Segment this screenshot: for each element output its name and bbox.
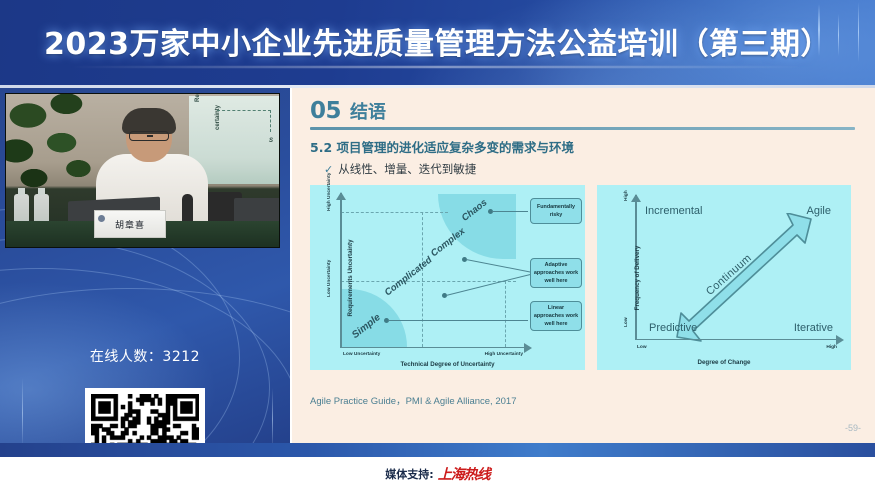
stacey-matrix-chart: Requirements Uncertainty Technical Degre…: [310, 185, 585, 370]
sidebar-ray-1: [22, 378, 23, 443]
heading-divider: [310, 127, 855, 130]
zone-label-complicated: Complicated: [383, 255, 435, 299]
quadrant-label-iterative: Iterative: [794, 322, 833, 334]
media-brand-logo: 上海热线: [438, 464, 490, 484]
x-axis-label: Technical Degree of Uncertainty: [310, 361, 585, 368]
gridline-h-upper: [341, 212, 448, 213]
page-title: 2023万家中小企业先进质量管理方法公益培训（第三期）: [0, 19, 875, 63]
callout-fundamentally-risky: Fundamentally risky: [530, 198, 582, 224]
leader-line-complex: [466, 259, 531, 273]
leader-line-chaos: [492, 211, 528, 212]
callout-adaptive-approaches: Adaptive approaches work well here: [530, 258, 582, 288]
quadrant-label-predictive: Predictive: [649, 322, 697, 334]
media-support-label: 媒体支持:: [385, 466, 433, 482]
continuum-chart: Frequency of Delivery Degree of Change H…: [597, 185, 851, 370]
x-axis: [340, 347, 525, 349]
sidebar-panel: Requirements Un certainty S 胡章喜 在线人数：321…: [0, 88, 290, 443]
slide-heading: 05 结语: [310, 98, 861, 124]
slide-source-citation: Agile Practice Guide，PMI & Agile Allianc…: [310, 393, 516, 407]
quadrant-label-incremental: Incremental: [645, 205, 702, 217]
video-feed[interactable]: Requirements Un certainty S 胡章喜: [5, 93, 280, 248]
qr-canvas[interactable]: [91, 394, 199, 443]
callout-linear-approaches: Linear approaches work well here: [530, 301, 582, 331]
y-axis-label: Frequency of Delivery: [634, 245, 641, 310]
y-tick-high: High Uncertainty: [327, 173, 332, 211]
sidebar-ray-2: [272, 388, 273, 443]
y-tick-high: High: [624, 190, 629, 201]
gridline-v-right: [505, 281, 506, 347]
charts-row: Requirements Uncertainty Technical Degre…: [310, 185, 861, 370]
section-title: 结语: [350, 98, 386, 124]
y-tick-low: Low Uncertainty: [327, 260, 332, 297]
y-axis: [340, 193, 342, 348]
gridline-h-lower: [341, 281, 516, 282]
x-tick-high: High: [826, 345, 837, 350]
presenter-nameplate: 胡章喜: [94, 210, 166, 238]
header-banner: 2023万家中小企业先进质量管理方法公益培训（第三期）: [0, 0, 875, 88]
leader-line-complicated: [446, 274, 532, 296]
presenter-name: 胡章喜: [115, 218, 145, 231]
bottom-blue-strip: [0, 443, 875, 457]
x-axis-label: Degree of Change: [597, 359, 851, 366]
projection-word: S: [269, 138, 273, 144]
section-number: 05: [310, 98, 341, 124]
projection-curve: [217, 110, 271, 132]
presenter-glasses: [129, 131, 169, 141]
bullet-label: 从线性、增量、迭代到敏捷: [338, 161, 476, 177]
y-tick-low: Low: [624, 317, 629, 327]
header-glow-line: [70, 66, 805, 68]
gridline-v-left: [422, 212, 423, 347]
online-viewer-count: 在线人数：3212: [0, 346, 290, 366]
leader-line-simple: [388, 320, 528, 321]
slide-subtitle: 5.2 项目管理的进化适应复杂多变的需求与环境: [310, 137, 861, 156]
footer-bar: 媒体支持: 上海热线: [0, 457, 875, 491]
slide-page-number: -59-: [845, 423, 861, 433]
quadrant-label-agile: Agile: [807, 205, 831, 217]
x-tick-low: Low: [637, 345, 647, 350]
slide-bullet: ✓ 从线性、增量、迭代到敏捷: [324, 161, 861, 177]
survey-qr-code[interactable]: [85, 388, 205, 443]
projection-ylabel: Requirements Un: [195, 93, 201, 102]
x-tick-high: High Uncertainty: [485, 352, 523, 357]
x-axis: [635, 339, 837, 341]
y-axis-label: Requirements Uncertainty: [347, 239, 354, 316]
x-tick-low: Low Uncertainty: [343, 352, 380, 357]
presentation-slide[interactable]: 05 结语 5.2 项目管理的进化适应复杂多变的需求与环境 ✓ 从线性、增量、迭…: [290, 88, 875, 443]
nameplate-logo-icon: [98, 215, 105, 222]
